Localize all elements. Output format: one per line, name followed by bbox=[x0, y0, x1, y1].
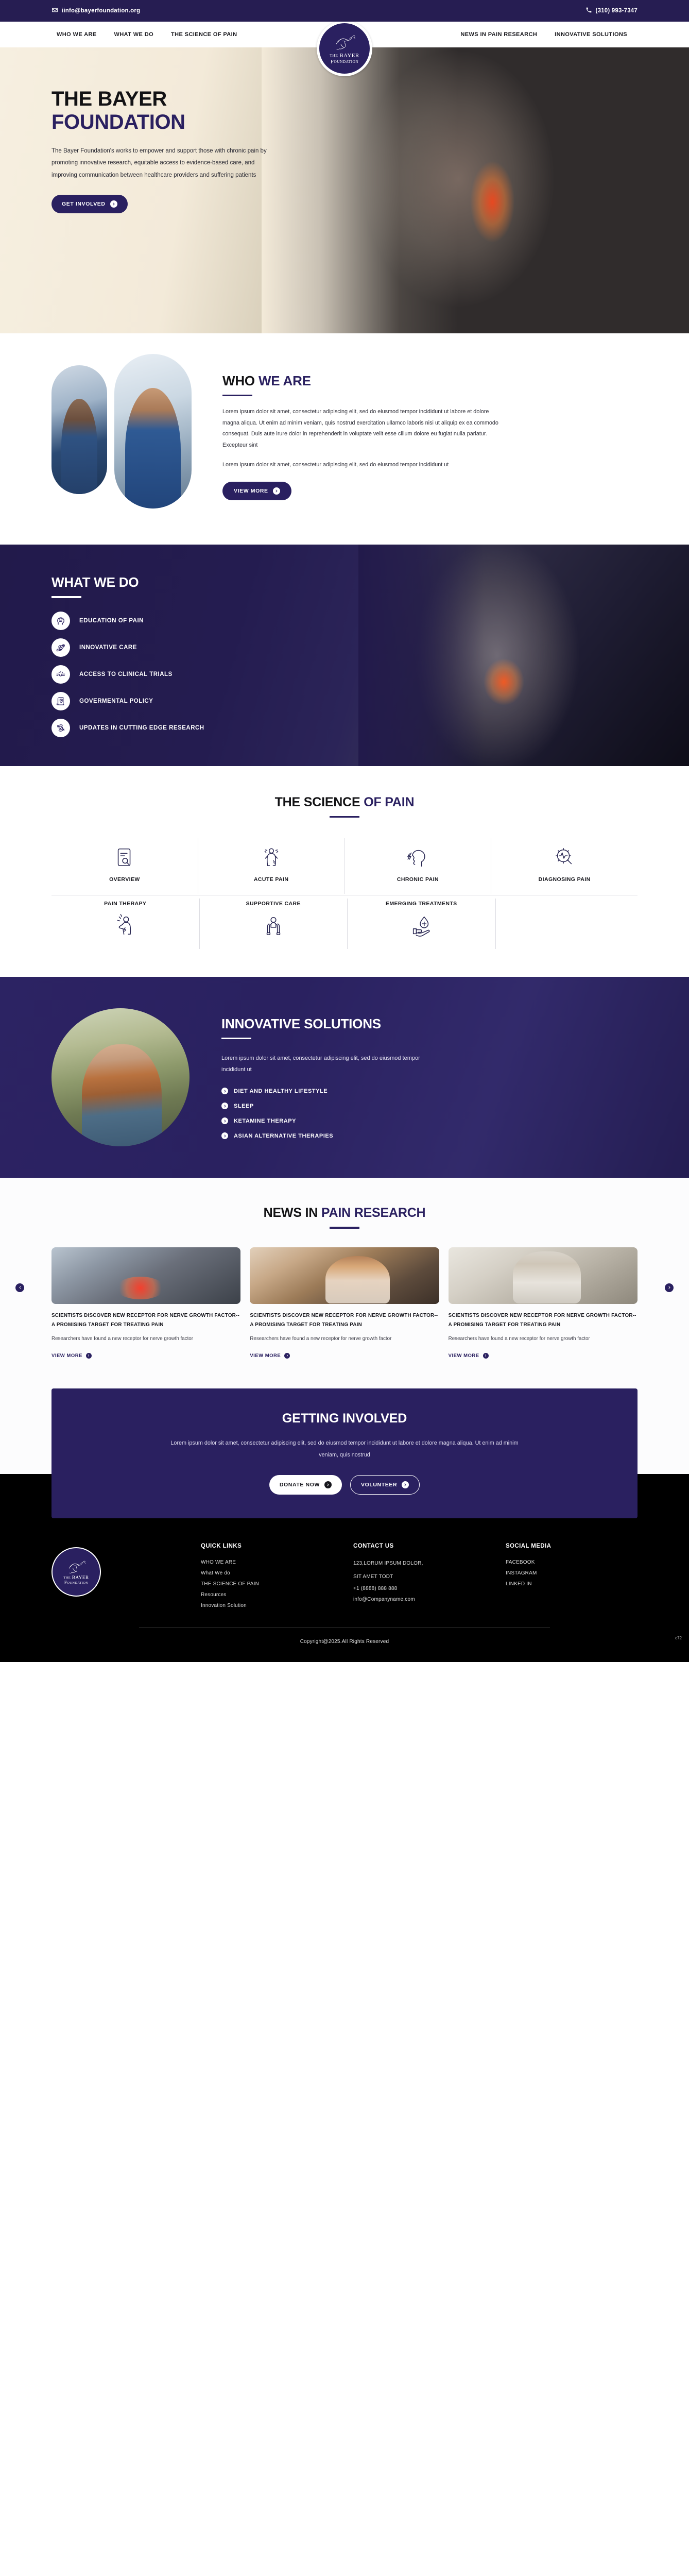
innov-label: SLEEP bbox=[234, 1103, 254, 1109]
footer-social-heading: SOCIAL MEDIA bbox=[506, 1543, 638, 1549]
head-rain-icon bbox=[51, 612, 70, 630]
innovative-solutions-image bbox=[51, 1008, 190, 1146]
science-row-1: OVERVIEW ACUTE PAIN CHRONIC PAIN DIAGNOS… bbox=[51, 838, 638, 894]
footer-address-line1: 123,LORUM IPSUM DOLOR, bbox=[353, 1560, 485, 1568]
footer-quick-links-list: WHO WE ARE What We do THE SCIENCE OF PAI… bbox=[201, 1560, 333, 1608]
innov-item-sleep[interactable]: SLEEP bbox=[221, 1103, 510, 1109]
footer-logo-line1: THE BAYER bbox=[63, 1576, 89, 1581]
scroll-shield-icon bbox=[51, 692, 70, 710]
joint-pain-icon bbox=[51, 665, 70, 684]
science-label: OVERVIEW bbox=[109, 876, 140, 883]
footer-quick-links-heading: QUICK LINKS bbox=[201, 1543, 333, 1549]
title-underline bbox=[222, 395, 252, 397]
chevron-right-icon bbox=[667, 1283, 671, 1292]
innovative-paragraph: Lorem ipsum dolor sit amet, consectetur … bbox=[221, 1053, 443, 1075]
hero-title-line1: THE BAYER bbox=[51, 88, 268, 111]
footer-link-innovation-solution[interactable]: Innovation Solution bbox=[201, 1603, 333, 1608]
head-lightning-icon bbox=[406, 845, 429, 869]
wwd-label: GOVERMENTAL POLICY bbox=[79, 698, 153, 704]
volunteer-label: VOLUNTEER bbox=[361, 1482, 397, 1488]
footer-link-resources[interactable]: Resources bbox=[201, 1592, 333, 1598]
hand-heartbeat-icon bbox=[51, 638, 70, 657]
who-we-are-title: WHO WE ARE bbox=[222, 374, 501, 389]
site-footer: THE BAYER FOUNDATION QUICK LINKS WHO WE … bbox=[0, 1518, 689, 1662]
chevron-right-icon bbox=[221, 1088, 228, 1094]
chevron-left-icon bbox=[18, 1283, 22, 1292]
wwd-item-education-of-pain[interactable]: EDUCATION OF PAIN bbox=[51, 612, 340, 630]
chevron-right-icon bbox=[273, 487, 280, 495]
wwd-item-updates-in-cutting-edge-research[interactable]: UPDATES IN CUTTING EDGE RESEARCH bbox=[51, 719, 340, 737]
science-card-chronic-pain[interactable]: CHRONIC PAIN bbox=[345, 838, 492, 894]
contact-email[interactable]: iinfo@bayerfoundation.org bbox=[51, 7, 140, 15]
who-view-more-label: VIEW MORE bbox=[234, 488, 268, 494]
footer-link-facebook[interactable]: FACEBOOK bbox=[506, 1560, 638, 1565]
footer-social-column: SOCIAL MEDIA FACEBOOK INSTAGRAM LINKED I… bbox=[506, 1543, 638, 1587]
get-involved-button[interactable]: GET INVOLVED bbox=[51, 195, 128, 213]
logo-oundation: OUNDATION bbox=[334, 59, 358, 64]
who-paragraph-1: Lorem ipsum dolor sit amet, consectetur … bbox=[222, 406, 501, 451]
science-card-overview[interactable]: OVERVIEW bbox=[51, 838, 198, 894]
who-we-are-images bbox=[51, 365, 192, 509]
wwd-label: EDUCATION OF PAIN bbox=[79, 618, 144, 624]
phone-icon bbox=[585, 7, 592, 15]
science-card-pain-therapy[interactable]: PAIN THERAPY bbox=[51, 899, 200, 949]
footer-link-what-we-do[interactable]: What We do bbox=[201, 1570, 333, 1576]
who-we-are-content: WHO WE ARE Lorem ipsum dolor sit amet, c… bbox=[222, 374, 501, 500]
news-grid: SCIENTISTS DISCOVER NEW RECEPTOR FOR NER… bbox=[51, 1247, 638, 1360]
news-card[interactable]: SCIENTISTS DISCOVER NEW RECEPTOR FOR NER… bbox=[449, 1247, 638, 1360]
footer-phone[interactable]: +1 (8888) 888 888 bbox=[353, 1586, 485, 1591]
innovative-solutions-content: INNOVATIVE SOLUTIONS Lorem ipsum dolor s… bbox=[221, 1016, 510, 1140]
science-row-2: PAIN THERAPY SUPPORTIVE CARE EMERGING TR… bbox=[51, 895, 638, 949]
news-title: NEWS IN PAIN RESEARCH bbox=[51, 1206, 638, 1221]
news-thumbnail bbox=[51, 1247, 240, 1304]
news-view-more-label: VIEW MORE bbox=[449, 1353, 479, 1359]
chevron-right-icon bbox=[402, 1481, 409, 1488]
innov-item-ketamine-therapy[interactable]: KETAMINE THERAPY bbox=[221, 1117, 510, 1124]
who-image-doctor-foreground bbox=[114, 354, 192, 509]
volunteer-button[interactable]: VOLUNTEER bbox=[350, 1475, 420, 1495]
footer-corner-mark: c72 bbox=[675, 1636, 682, 1640]
chevron-right-icon bbox=[284, 1353, 290, 1359]
innov-title-accent: SOLUTIONS bbox=[304, 1016, 381, 1031]
news-view-more-label: VIEW MORE bbox=[51, 1353, 82, 1359]
footer-contact-list: 123,LORUM IPSUM DOLOR, SIT AMET TODT +1 … bbox=[353, 1560, 485, 1602]
science-row-spacer bbox=[496, 899, 638, 949]
logo-bayer: BAYER bbox=[72, 1575, 89, 1581]
getting-involved-wrapper: GETTING INVOLVED Lorem ipsum dolor sit a… bbox=[0, 1388, 689, 1518]
innov-label: DIET AND HEALTHY LIFESTYLE bbox=[234, 1088, 328, 1094]
footer-social-list: FACEBOOK INSTAGRAM LINKED IN bbox=[506, 1560, 638, 1587]
who-paragraph-2: Lorem ipsum dolor sit amet, consectetur … bbox=[222, 460, 501, 471]
contact-email-text: iinfo@bayerfoundation.org bbox=[62, 8, 140, 14]
wwd-item-innovative-care[interactable]: INNOVATIVE CARE bbox=[51, 638, 340, 657]
innovative-solutions-section: INNOVATIVE SOLUTIONS Lorem ipsum dolor s… bbox=[0, 977, 689, 1178]
footer-contact-heading: CONTACT US bbox=[353, 1543, 485, 1549]
gear-magnifier-pulse-icon bbox=[553, 845, 576, 869]
title-underline bbox=[221, 1038, 251, 1040]
footer-logo-line2: FOUNDATION bbox=[64, 1581, 89, 1586]
contact-phone[interactable]: (310) 993-7347 bbox=[585, 7, 638, 15]
contact-phone-text: (310) 993-7347 bbox=[596, 8, 638, 14]
wwd-label: INNOVATIVE CARE bbox=[79, 645, 137, 651]
logo-the: THE bbox=[63, 1576, 71, 1580]
footer-logo[interactable]: THE BAYER FOUNDATION bbox=[51, 1547, 101, 1597]
title-underline bbox=[330, 816, 359, 818]
get-involved-label: GET INVOLVED bbox=[62, 201, 106, 207]
getting-involved-paragraph: Lorem ipsum dolor sit amet, consectetur … bbox=[167, 1437, 522, 1461]
dove-icon bbox=[333, 31, 356, 52]
involved-title-accent: INVOLVED bbox=[342, 1411, 407, 1426]
getting-involved-buttons: DONATE NOW VOLUNTEER bbox=[93, 1475, 596, 1495]
what-we-do-content: WHAT WE DO EDUCATION OF PAIN INNOVATIVE … bbox=[51, 574, 340, 737]
involved-title-plain: GETTING bbox=[282, 1411, 342, 1426]
logo-text-line2: FOUNDATION bbox=[331, 59, 358, 65]
science-title-accent: OF PAIN bbox=[364, 795, 414, 809]
footer-copyright: Copyright@2025.All Rights Reserved bbox=[51, 1628, 638, 1662]
chevron-right-icon bbox=[483, 1353, 489, 1359]
footer-email[interactable]: info@Companyname.com bbox=[353, 1597, 485, 1602]
caring-hands-icon bbox=[262, 914, 285, 938]
donate-now-label: DONATE NOW bbox=[280, 1482, 320, 1488]
science-card-acute-pain[interactable]: ACUTE PAIN bbox=[198, 838, 345, 894]
footer-contact-column: CONTACT US 123,LORUM IPSUM DOLOR, SIT AM… bbox=[353, 1543, 485, 1602]
chevron-right-icon bbox=[86, 1353, 92, 1359]
innov-item-asian-alternative-therapies[interactable]: ASIAN ALTERNATIVE THERAPIES bbox=[221, 1132, 510, 1139]
footer-link-science-of-pain[interactable]: THE SCIENCE OF PAIN bbox=[201, 1581, 333, 1587]
chevron-right-icon bbox=[221, 1103, 228, 1109]
news-view-more-link[interactable]: VIEW MORE bbox=[449, 1353, 489, 1359]
footer-quick-links-column: QUICK LINKS WHO WE ARE What We do THE SC… bbox=[201, 1543, 333, 1608]
title-underline bbox=[330, 1227, 359, 1229]
mail-icon bbox=[51, 7, 58, 15]
back-pain-person-icon bbox=[260, 845, 283, 869]
donate-now-button[interactable]: DONATE NOW bbox=[269, 1475, 342, 1495]
what-we-do-section: WHAT WE DO EDUCATION OF PAIN INNOVATIVE … bbox=[0, 545, 689, 766]
main-navigation: WHO WE ARE WHAT WE DO THE SCIENCE OF PAI… bbox=[0, 22, 689, 47]
nav-item-what-we-do[interactable]: WHAT WE DO bbox=[114, 31, 154, 38]
what-we-do-title: WHAT WE DO bbox=[51, 574, 340, 590]
hero-paragraph: The Bayer Foundation's works to empower … bbox=[51, 145, 268, 182]
what-we-do-list: EDUCATION OF PAIN INNOVATIVE CARE ACCESS… bbox=[51, 612, 340, 737]
hero-content: THE BAYER FOUNDATION The Bayer Foundatio… bbox=[0, 47, 268, 213]
news-card-description: Researchers have found a new receptor fo… bbox=[51, 1334, 240, 1344]
logo-bayer: BAYER bbox=[339, 53, 359, 59]
science-of-pain-section: THE SCIENCE OF PAIN OVERVIEW ACUTE PAIN bbox=[0, 766, 689, 977]
science-card-emerging-treatments[interactable]: EMERGING TREATMENTS bbox=[348, 899, 496, 949]
who-image-nurse-background bbox=[51, 365, 107, 494]
news-view-more-link[interactable]: VIEW MORE bbox=[250, 1353, 290, 1359]
innovative-solutions-title: INNOVATIVE SOLUTIONS bbox=[221, 1016, 510, 1032]
nav-item-news-in-pain-research[interactable]: NEWS IN PAIN RESEARCH bbox=[460, 31, 537, 38]
news-card[interactable]: SCIENTISTS DISCOVER NEW RECEPTOR FOR NER… bbox=[51, 1247, 240, 1360]
innov-label: ASIAN ALTERNATIVE THERAPIES bbox=[234, 1133, 333, 1139]
hero-section: THE BAYER FOUNDATION The Bayer Foundatio… bbox=[0, 47, 689, 333]
who-we-are-section: WHO WE ARE Lorem ipsum dolor sit amet, c… bbox=[0, 333, 689, 545]
wwd-item-governmental-policy[interactable]: GOVERMENTAL POLICY bbox=[51, 692, 340, 710]
innov-label: KETAMINE THERAPY bbox=[234, 1118, 296, 1124]
science-label: PAIN THERAPY bbox=[104, 901, 146, 907]
chevron-right-icon bbox=[324, 1481, 332, 1488]
innov-item-diet-and-healthy-lifestyle[interactable]: DIET AND HEALTHY LIFESTYLE bbox=[221, 1088, 510, 1094]
science-of-pain-title: THE SCIENCE OF PAIN bbox=[51, 795, 638, 810]
science-title-plain: THE SCIENCE bbox=[275, 795, 364, 809]
hero-title-line2: FOUNDATION bbox=[51, 111, 268, 134]
nav-right-group: NEWS IN PAIN RESEARCH INNOVATIVE SOLUTIO… bbox=[460, 31, 627, 38]
science-label: DIAGNOSING PAIN bbox=[539, 876, 591, 883]
chevron-right-icon bbox=[221, 1132, 228, 1139]
what-we-do-background-image bbox=[358, 545, 689, 766]
science-card-diagnosing-pain[interactable]: DIAGNOSING PAIN bbox=[491, 838, 638, 894]
innov-title-plain: INNOVATIVE bbox=[221, 1016, 304, 1031]
science-label: SUPPORTIVE CARE bbox=[246, 901, 301, 907]
site-logo[interactable]: THE BAYER FOUNDATION bbox=[317, 21, 372, 76]
chevron-right-icon bbox=[110, 200, 117, 208]
carousel-next-button[interactable] bbox=[665, 1283, 674, 1292]
refresh-check-icon bbox=[51, 719, 70, 737]
hero-background-image bbox=[262, 47, 689, 333]
news-card-title: SCIENTISTS DISCOVER NEW RECEPTOR FOR NER… bbox=[250, 1311, 439, 1330]
news-card-description: Researchers have found a new receptor fo… bbox=[449, 1334, 638, 1344]
nav-item-innovative-solutions[interactable]: INNOVATIVE SOLUTIONS bbox=[555, 31, 627, 38]
science-card-supportive-care[interactable]: SUPPORTIVE CARE bbox=[200, 899, 348, 949]
news-card[interactable]: SCIENTISTS DISCOVER NEW RECEPTOR FOR NER… bbox=[250, 1247, 439, 1360]
footer-link-instagram[interactable]: INSTAGRAM bbox=[506, 1570, 638, 1576]
science-label: ACUTE PAIN bbox=[254, 876, 288, 883]
who-title-plain: WHO bbox=[222, 373, 259, 388]
footer-link-who-we-are[interactable]: WHO WE ARE bbox=[201, 1560, 333, 1565]
wwd-label: UPDATES IN CUTTING EDGE RESEARCH bbox=[79, 725, 204, 731]
news-section: NEWS IN PAIN RESEARCH SCIENTISTS DISCOVE… bbox=[0, 1178, 689, 1388]
wwd-item-access-to-clinical-trials[interactable]: ACCESS TO CLINICAL TRIALS bbox=[51, 665, 340, 684]
logo-the: THE bbox=[330, 53, 338, 58]
carousel-prev-button[interactable] bbox=[15, 1283, 24, 1292]
news-card-description: Researchers have found a new receptor fo… bbox=[250, 1334, 439, 1344]
who-view-more-button[interactable]: VIEW MORE bbox=[222, 482, 291, 500]
chevron-right-icon bbox=[221, 1117, 228, 1124]
footer-columns: THE BAYER FOUNDATION QUICK LINKS WHO WE … bbox=[51, 1543, 638, 1608]
hand-droplet-plus-icon bbox=[409, 914, 433, 938]
news-view-more-link[interactable]: VIEW MORE bbox=[51, 1353, 92, 1359]
footer-logo-column: THE BAYER FOUNDATION bbox=[51, 1543, 180, 1597]
wwd-label: ACCESS TO CLINICAL TRIALS bbox=[79, 671, 173, 677]
logo-oundation: OUNDATION bbox=[67, 1581, 88, 1585]
news-title-plain: NEWS IN bbox=[264, 1206, 321, 1220]
news-thumbnail bbox=[250, 1247, 439, 1304]
science-label: EMERGING TREATMENTS bbox=[386, 901, 457, 907]
top-utility-bar: iinfo@bayerfoundation.org (310) 993-7347 bbox=[0, 0, 689, 22]
news-card-title: SCIENTISTS DISCOVER NEW RECEPTOR FOR NER… bbox=[51, 1311, 240, 1330]
dove-icon bbox=[66, 1557, 87, 1575]
science-label: CHRONIC PAIN bbox=[397, 876, 439, 883]
who-title-accent: WE ARE bbox=[259, 373, 311, 388]
logo-text-line1: THE BAYER bbox=[330, 53, 359, 59]
getting-involved-title: GETTING INVOLVED bbox=[93, 1411, 596, 1426]
document-search-icon bbox=[113, 845, 136, 869]
innovative-list: DIET AND HEALTHY LIFESTYLE SLEEP KETAMIN… bbox=[221, 1088, 510, 1139]
footer-address-line2: SIT AMET TODT bbox=[353, 1573, 485, 1581]
page-root: iinfo@bayerfoundation.org (310) 993-7347… bbox=[0, 0, 689, 1662]
footer-link-linkedin[interactable]: LINKED IN bbox=[506, 1581, 638, 1587]
news-thumbnail bbox=[449, 1247, 638, 1304]
wwd-title-accent: WE DO bbox=[94, 574, 139, 590]
nav-left-group: WHO WE ARE WHAT WE DO THE SCIENCE OF PAI… bbox=[57, 31, 237, 38]
news-title-accent: PAIN RESEARCH bbox=[321, 1206, 426, 1220]
neck-pain-person-icon bbox=[113, 914, 137, 938]
getting-involved-panel: GETTING INVOLVED Lorem ipsum dolor sit a… bbox=[51, 1388, 638, 1518]
news-card-title: SCIENTISTS DISCOVER NEW RECEPTOR FOR NER… bbox=[449, 1311, 638, 1330]
nav-item-who-we-are[interactable]: WHO WE ARE bbox=[57, 31, 97, 38]
nav-item-science-of-pain[interactable]: THE SCIENCE OF PAIN bbox=[171, 31, 237, 38]
title-underline bbox=[51, 596, 81, 598]
news-view-more-label: VIEW MORE bbox=[250, 1353, 281, 1359]
wwd-title-plain: WHAT bbox=[51, 574, 94, 590]
